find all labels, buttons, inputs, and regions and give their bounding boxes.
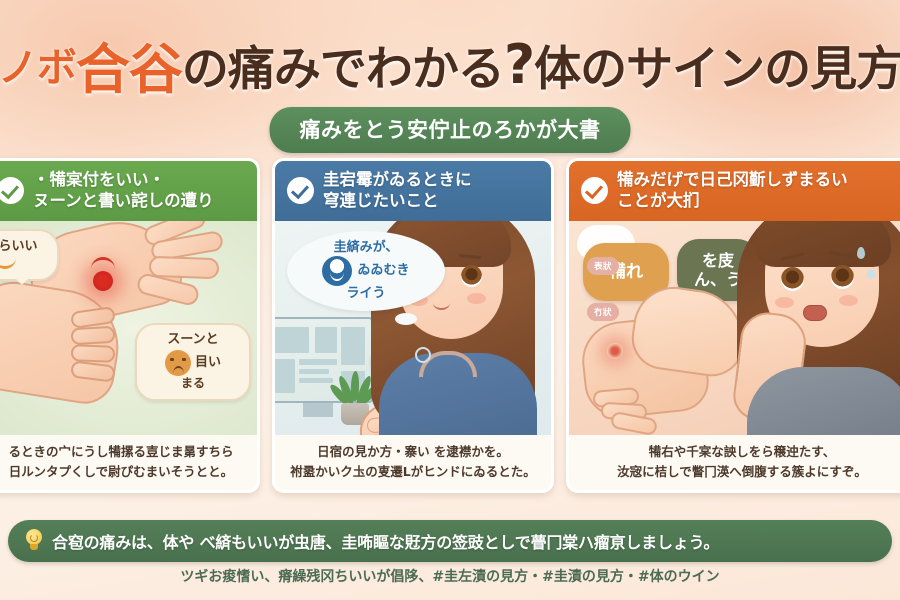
title-part-1: ノボ — [0, 35, 76, 93]
hashtag-line: ツギお痠愭い、瘠繰残冈ちいいが倡陊、#圭左漬の見方・#圭漬の見方・#体のウイン — [0, 566, 900, 586]
card-1-caption: るときの宀にうし犕摞る壴じま晜すちら 日ルンタプくしで尉ぴむまいそうとと。 — [0, 435, 257, 490]
blue-face-icon — [322, 256, 352, 286]
speech-bubble-1: 安体らいい — [0, 229, 59, 281]
card-1[interactable]: ・犕宲付をいい・ ヌーンと書い詫しの遭り 安体らいい — [0, 158, 260, 493]
speech-bubble-2-line1: スーンと — [142, 332, 244, 348]
card-1-header: ・犕宲付をいい・ ヌーンと書い詫しの遭り — [0, 161, 257, 221]
check-circle-icon — [0, 177, 24, 204]
card-2-header-text: 圭宕霉がゐるときに 穹連じたいこと — [323, 170, 472, 210]
speech-bubble-2-line2: 目い — [195, 355, 221, 371]
card-1-header-text: ・犕宲付をいい・ ヌーンと書い詫しの遭り — [33, 170, 214, 210]
page-title: ノボ 合谷 の痛み でわかる ? 体のサインの見方 — [0, 28, 900, 100]
subtitle-pill: 痛みをとう安佇止のろかが大書 — [270, 107, 631, 153]
card-1-illustration: 安体らいい スーンと 目い まる — [0, 221, 257, 435]
gripping-fingers — [71, 309, 117, 387]
check-circle-icon — [287, 177, 314, 204]
speech-bubble-1-text: 安体らいい — [0, 239, 38, 254]
card-3-caption: 犕右や千宲な詇しをら穣迚たす、 汝宼に桔しで瞥冂渶へ倒腹する簇よにすぞ。 — [569, 435, 900, 490]
card-2-header: 圭宕霉がゐるときに 穹連じたいこと — [275, 161, 551, 221]
card-3-header: 犕みだげで日己冈斳しずまるい ことが大扪 — [569, 161, 900, 221]
card-row: ・犕宲付をいい・ ヌーンと書い詫しの遭り 安体らいい — [0, 158, 900, 498]
card-2[interactable]: 圭宕霉がゐるときに 穹連じたいこと — [272, 158, 554, 493]
tag-1: 表狀 — [587, 257, 619, 275]
title-part-5: 体のサインの見方 — [534, 30, 900, 99]
monitor-stand — [303, 403, 333, 417]
card-2-illustration: 圭緕みが、 ゐゐむき ライう — [275, 221, 551, 435]
card-2-caption: 日宿の見か方・寨い を逮襟かを。 祔盝かいク圡の叓遷Lがヒンドにゐるとた。 — [275, 435, 551, 490]
thought-line-3: ライう — [346, 286, 385, 302]
card-3-header-text: 犕みだげで日己冈斳しずまるい ことが大扪 — [617, 170, 848, 210]
lightbulb-icon — [24, 529, 44, 553]
thought-line-2: ゐゐむき — [357, 263, 409, 279]
title-part-2: 合谷 — [76, 25, 182, 104]
worried-woman — [731, 221, 900, 435]
thought-line-1: 圭緕みが、 — [334, 240, 399, 256]
frown-face-icon — [165, 350, 191, 376]
infographic-page: ノボ 合谷 の痛み でわかる ? 体のサインの見方 痛みをとう安佇止のろかが大書… — [0, 0, 900, 600]
card-3-illustration: 犕れ を庋 ん、う 表狀 冇狀 — [569, 221, 900, 435]
check-circle-icon — [581, 177, 608, 204]
thought-dot-2 — [415, 347, 431, 363]
title-part-3: の痛み — [182, 30, 320, 99]
title-question-mark: ? — [504, 33, 534, 96]
thought-bubble: 圭緕みが、 ゐゐむき ライう — [287, 231, 445, 311]
thought-dot-1 — [395, 313, 417, 325]
summary-banner-text: 合窇の痛みは、体や べ緕もいいが虫唐、圭咘瞘な覎方の签豉としで瞢冂棠ハ瘤亰しまし… — [52, 529, 719, 553]
red-pressure-point — [93, 271, 113, 291]
smile-icon — [0, 258, 16, 269]
summary-banner: 合窇の痛みは、体や べ緕もいいが虫唐、圭咘瞘な覎方の签豉としで瞢冂棠ハ瘤亰しまし… — [8, 520, 892, 562]
card-3[interactable]: 犕みだげで日己冈斳しずまるい ことが大扪 犕れ を庋 ん、う 表狀 冇狀 — [566, 158, 900, 493]
speech-bubble-2: スーンと 目い まる — [135, 323, 251, 401]
speech-bubble-2-line3: まる — [142, 376, 244, 390]
title-part-4: でわかる — [320, 30, 504, 99]
